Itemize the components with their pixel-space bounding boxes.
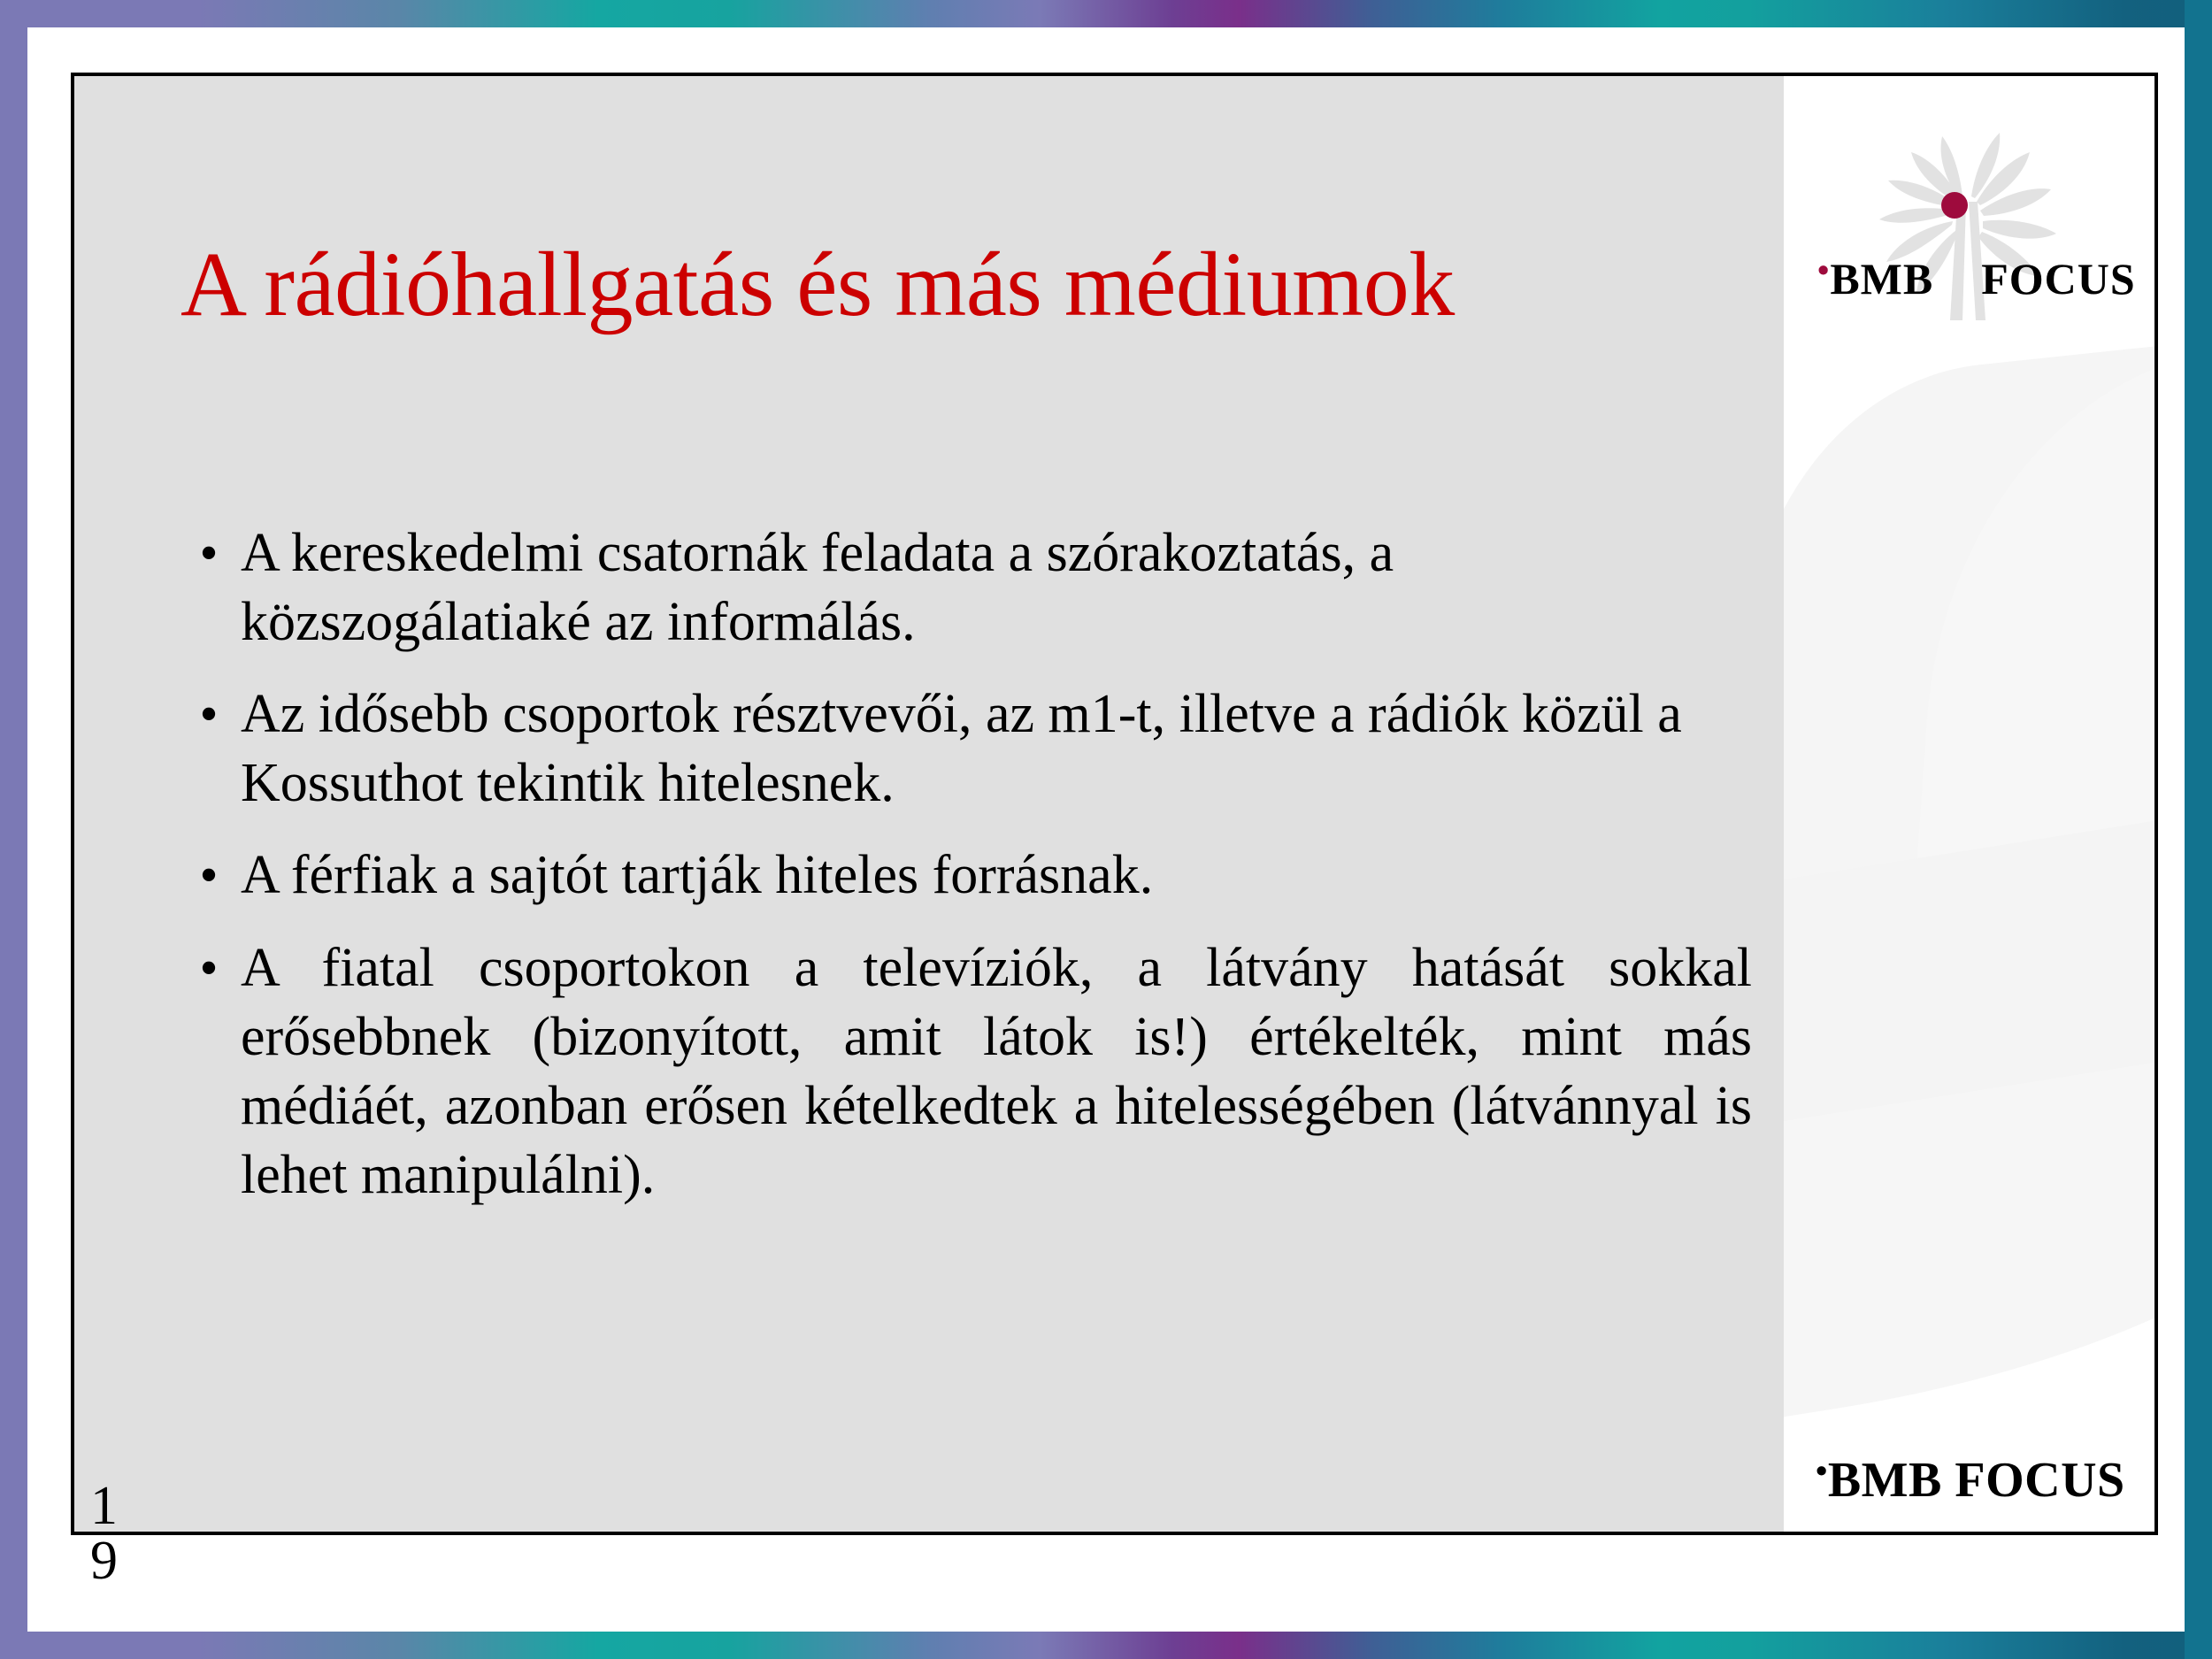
decorative-border-right <box>2185 0 2212 1659</box>
list-item: • A kereskedelmi csatornák feladata a sz… <box>177 518 1752 657</box>
watermark-swoosh-icon <box>1784 1033 2154 1447</box>
decorative-border-top <box>0 0 2212 27</box>
watermark-petal-icon <box>1784 345 2154 886</box>
brand-bullet-icon: • <box>1817 252 1830 289</box>
bullet-marker-icon: • <box>177 680 241 749</box>
watermark-petal-icon <box>1915 326 2154 924</box>
footer-brand-label: BMB FOCUS <box>1828 1453 2125 1508</box>
list-item: • A fiatal csoportokon a televíziók, a l… <box>177 933 1752 1210</box>
page-number-digit-two: 9 <box>90 1533 152 1588</box>
bmb-focus-dot-icon <box>1941 192 1968 219</box>
slide-page-root: A rádióhallgatás és más médiumok • A ker… <box>0 0 2212 1659</box>
bullet-text: A férfiak a sajtót tartják hiteles forrá… <box>241 841 1752 910</box>
brand-word-focus: FOCUS <box>1981 254 2135 303</box>
watermark-swoosh-icon <box>1784 795 2154 1208</box>
slide-logo-panel: •BMBFOCUS •BMB FOCUS <box>1784 76 2154 1532</box>
bullet-text: A fiatal csoportokon a televíziók, a lát… <box>241 933 1752 1210</box>
footer-bullet-icon: • <box>1816 1453 1828 1490</box>
slide-content-panel: A rádióhallgatás és más médiumok • A ker… <box>74 76 1784 1532</box>
list-item: • A férfiak a sajtót tartják hiteles for… <box>177 841 1752 910</box>
brand-word-bmb: BMB <box>1830 254 1933 303</box>
brand-logo: •BMBFOCUS <box>1784 76 2154 368</box>
slide-frame: A rádióhallgatás és más médiumok • A ker… <box>71 73 2158 1535</box>
brand-wordmark: •BMBFOCUS <box>1817 251 2145 304</box>
bullet-list: • A kereskedelmi csatornák feladata a sz… <box>177 518 1752 1233</box>
slide-white-page: A rádióhallgatás és más médiumok • A ker… <box>27 27 2185 1632</box>
footer-brand: •BMB FOCUS <box>1816 1452 2125 1509</box>
page-number-digit-one: 1 <box>90 1479 152 1533</box>
page-number: 1 9 <box>90 1479 152 1588</box>
decorative-border-left <box>0 0 27 1659</box>
bullet-marker-icon: • <box>177 841 241 910</box>
bullet-marker-icon: • <box>177 933 241 1002</box>
page-title: A rádióhallgatás és más médiumok <box>180 239 1764 331</box>
decorative-border-bottom <box>0 1632 2212 1659</box>
list-item: • Az idősebb csoportok résztvevői, az m1… <box>177 680 1752 818</box>
bullet-text: Az idősebb csoportok résztvevői, az m1-t… <box>241 680 1752 818</box>
bullet-text: A kereskedelmi csatornák feladata a szór… <box>241 518 1752 657</box>
bullet-marker-icon: • <box>177 518 241 588</box>
